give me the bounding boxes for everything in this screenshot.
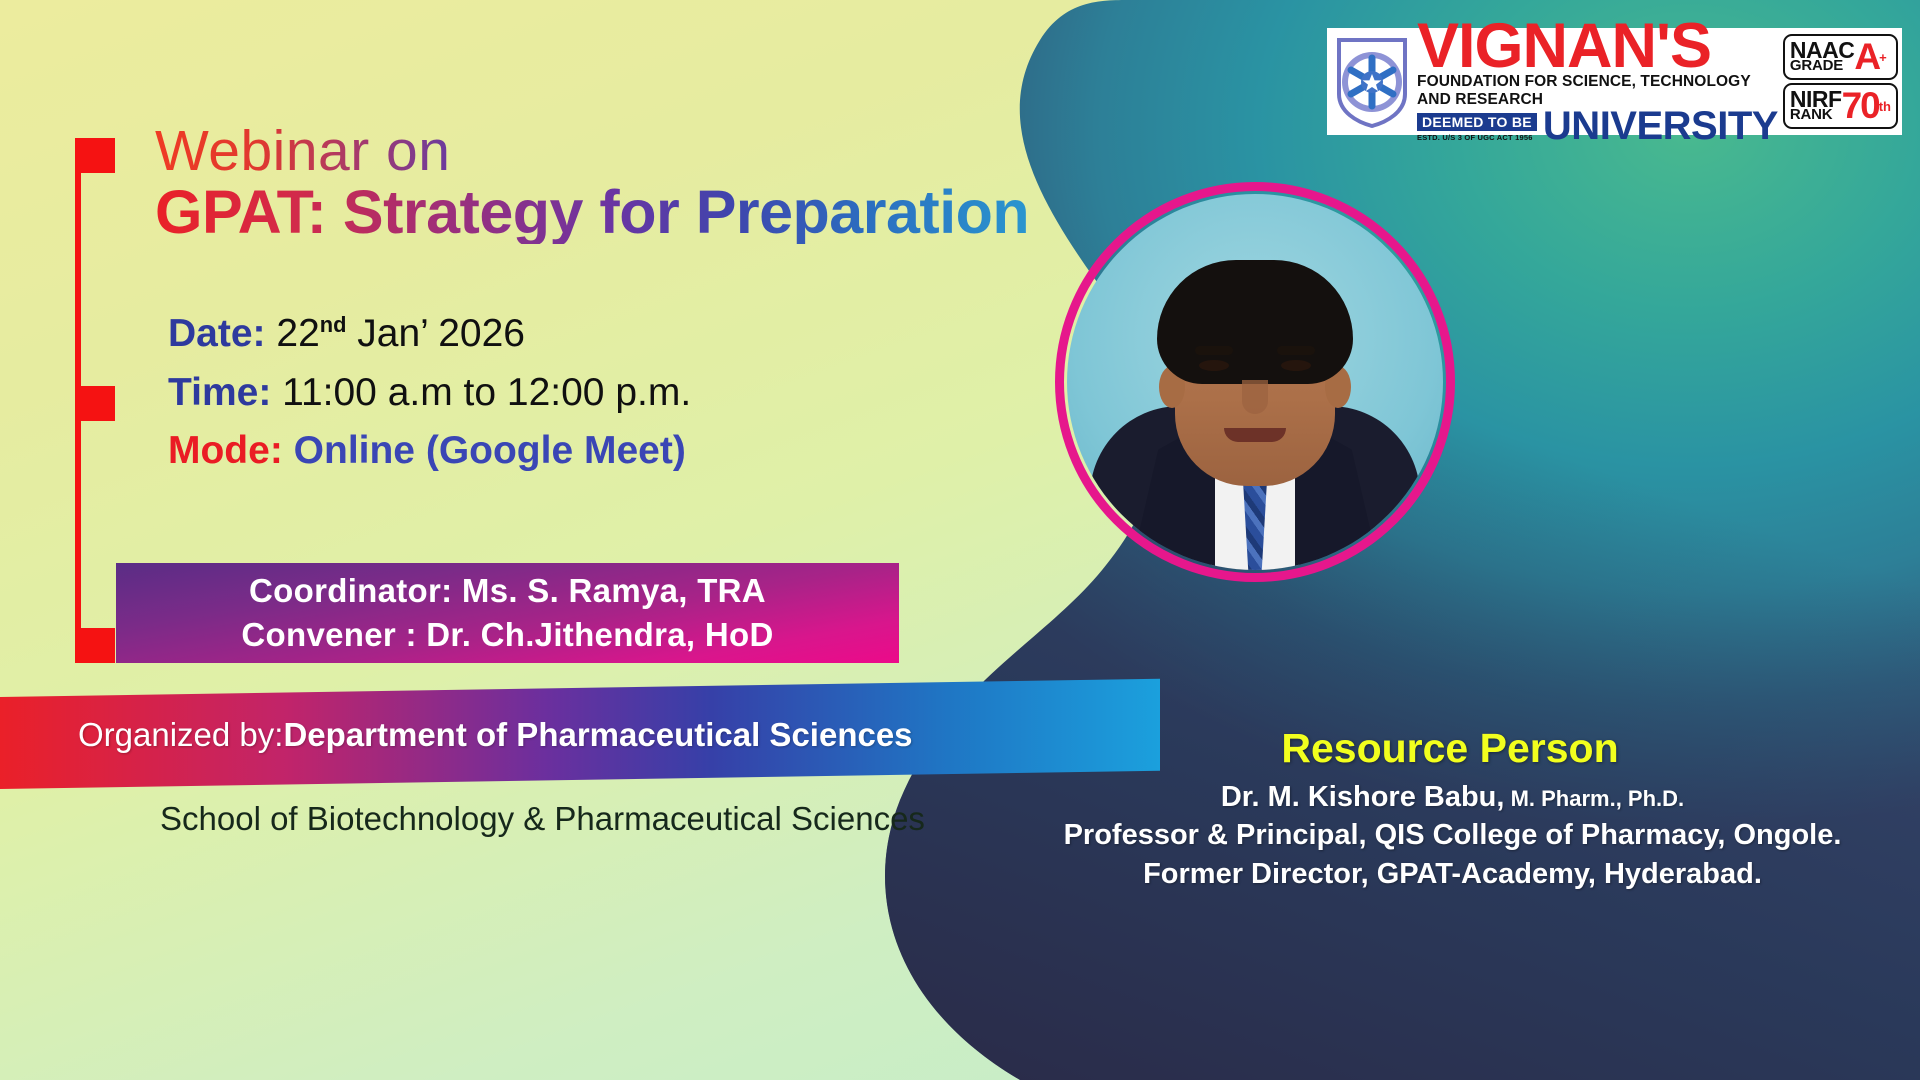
page-title: GPAT: Strategy for Preparation [155, 180, 1029, 244]
resource-person-photo [1055, 182, 1455, 582]
bracket-tab-middle [75, 386, 115, 421]
resource-person-affiliation: Professor & Principal, QIS College of Ph… [1000, 816, 1905, 854]
resource-person-name-row: Dr. M. Kishore Babu, M. Pharm., Ph.D. [1000, 778, 1905, 816]
naac-badge-sup: + [1879, 50, 1887, 65]
webinar-poster: VIGNAN'S FOUNDATION FOR SCIENCE, TECHNOL… [0, 0, 1920, 1080]
red-bracket-decoration [75, 138, 115, 663]
resource-person-former-role: Former Director, GPAT-Academy, Hyderabad… [1000, 855, 1905, 893]
time-label: Time: [168, 371, 271, 414]
date-value-suffix: Jan’ 2026 [346, 312, 525, 355]
university-logo: VIGNAN'S FOUNDATION FOR SCIENCE, TECHNOL… [1327, 28, 1902, 135]
resource-person-title: Resource Person [1010, 725, 1890, 772]
time-value: 11:00 a.m to 12:00 p.m. [282, 371, 691, 414]
logo-name: VIGNAN'S [1417, 21, 1780, 73]
bracket-tab-bottom [75, 628, 115, 663]
school-line: School of Biotechnology & Pharmaceutical… [160, 800, 925, 838]
nirf-badge-bottom: RANK [1790, 109, 1842, 122]
detail-row-date: Date: 22nd Jan’ 2026 [168, 305, 691, 364]
coordinator-banner: Coordinator: Ms. S. Ramya, TRA Convener … [116, 563, 899, 663]
event-details: Date: 22nd Jan’ 2026 Time: 11:00 a.m to … [168, 305, 691, 481]
nirf-badge-sup: th [1879, 99, 1891, 114]
nirf-badge-rank: 70 [1842, 91, 1879, 121]
detail-row-mode: Mode: Online (Google Meet) [168, 422, 691, 481]
photo-ring [1055, 182, 1455, 582]
coordinator-line: Coordinator: Ms. S. Ramya, TRA [249, 569, 766, 613]
organized-by-text: Organized by: Department of Pharmaceutic… [78, 706, 1138, 764]
resource-person-details: Dr. M. Kishore Babu, M. Pharm., Ph.D. Pr… [1000, 778, 1905, 893]
detail-row-time: Time: 11:00 a.m to 12:00 p.m. [168, 364, 691, 423]
logo-university-word: UNIVERSITY [1543, 110, 1778, 142]
naac-badge-bottom: GRADE [1790, 60, 1854, 73]
bracket-tab-top [75, 138, 115, 173]
date-value-prefix: 22 [276, 312, 319, 355]
nirf-badge: NIRF RANK 70 th [1783, 83, 1898, 129]
mode-value: Online (Google Meet) [294, 429, 686, 472]
resource-person-name: Dr. M. Kishore Babu, [1221, 781, 1505, 813]
date-value-ordinal: nd [320, 312, 347, 337]
webinar-eyebrow: Webinar on [155, 123, 450, 180]
organized-by-department: Department of Pharmaceutical Sciences [283, 716, 912, 754]
logo-wordmark: VIGNAN'S FOUNDATION FOR SCIENCE, TECHNOL… [1413, 31, 1780, 132]
convener-line: Convener : Dr. Ch.Jithendra, HoD [241, 613, 773, 657]
mode-label: Mode: [168, 429, 283, 472]
logo-deemed-badge: DEEMED TO BE [1417, 113, 1537, 132]
logo-estd-text: ESTD. U/S 3 OF UGC ACT 1956 [1417, 133, 1537, 142]
organized-by-prefix: Organized by: [78, 716, 283, 754]
date-label: Date: [168, 312, 266, 355]
resource-person-qualification: M. Pharm., Ph.D. [1504, 786, 1684, 811]
naac-badge-grade: A [1854, 42, 1879, 72]
university-crest-icon [1331, 31, 1413, 132]
naac-badge: NAAC GRADE A + [1783, 34, 1898, 80]
accreditation-badges: NAAC GRADE A + NIRF RANK 70 th [1780, 31, 1898, 132]
